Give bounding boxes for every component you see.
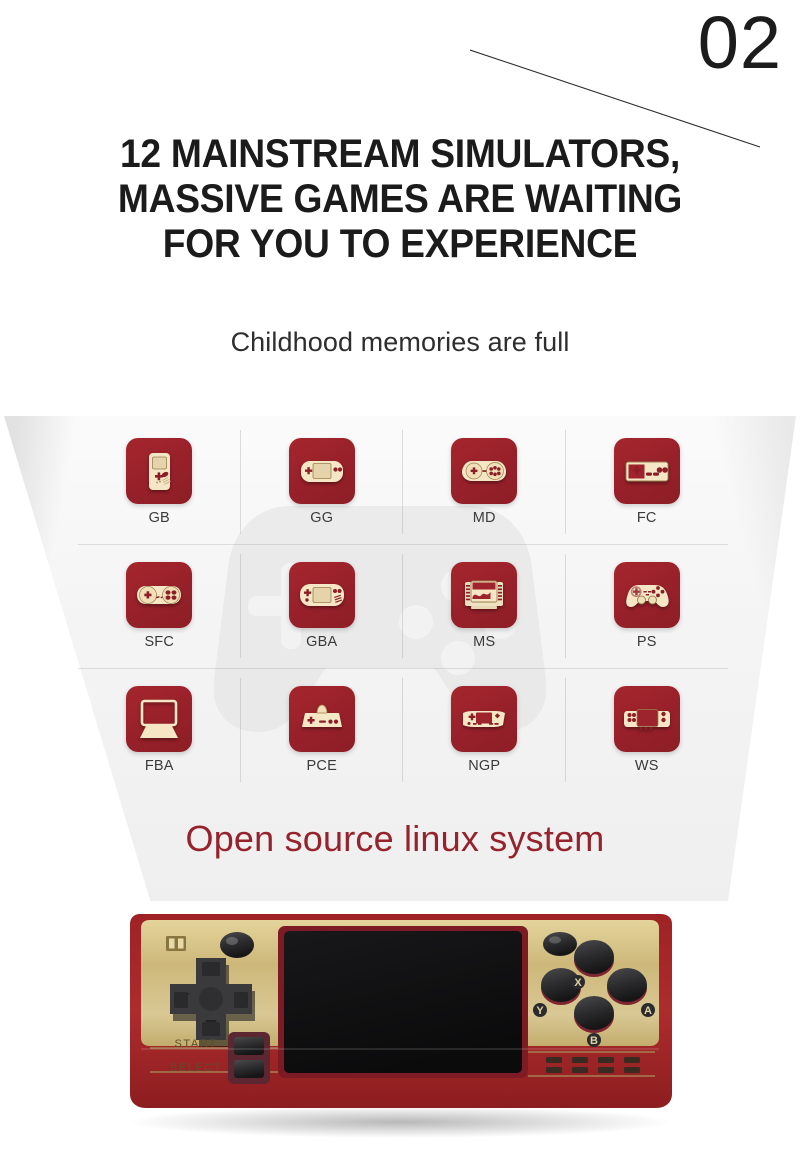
gameboy-advance-icon xyxy=(297,570,347,620)
simulator-tile xyxy=(614,562,680,628)
simulator-tile xyxy=(451,438,517,504)
simulator-tile xyxy=(126,686,192,752)
simulator-cell-fc[interactable]: FC xyxy=(566,420,729,544)
simulator-tile xyxy=(451,686,517,752)
simulator-tile xyxy=(289,562,355,628)
simulator-grid: GB GG xyxy=(78,420,728,792)
mega-drive-pad-icon xyxy=(459,446,509,496)
device-illustration: START SELECT X Y xyxy=(0,900,800,1156)
start-select-switches xyxy=(228,1032,270,1084)
simulator-label: SFC xyxy=(144,634,174,650)
simulator-label: MS xyxy=(473,634,495,650)
simulator-tile xyxy=(614,686,680,752)
wonderswan-icon xyxy=(622,694,672,744)
simulator-tile xyxy=(126,438,192,504)
famicom-pad-icon xyxy=(622,446,672,496)
button-b-label: B xyxy=(590,1035,598,1047)
simulator-tile xyxy=(289,438,355,504)
simulator-cell-md[interactable]: MD xyxy=(403,420,566,544)
select-label: SELECT xyxy=(170,1062,222,1074)
master-system-icon xyxy=(459,570,509,620)
simulator-label: GBA xyxy=(306,634,337,650)
simulator-label: PS xyxy=(637,634,657,650)
simulator-cell-ms[interactable]: MS xyxy=(403,544,566,668)
simulator-cell-gba[interactable]: GBA xyxy=(241,544,404,668)
simulator-panel: GB GG xyxy=(0,406,800,906)
simulator-cell-ngp[interactable]: NGP xyxy=(403,668,566,792)
handheld-device: START SELECT X Y xyxy=(0,900,800,1156)
device-screen xyxy=(284,931,522,1073)
page-headline: 12 MAINSTREAM SIMULATORS, MASSIVE GAMES … xyxy=(28,132,772,266)
simulator-cell-fba[interactable]: FBA xyxy=(78,668,241,792)
simulator-tile xyxy=(126,562,192,628)
simulator-label: FC xyxy=(637,510,657,526)
simulator-label: PCE xyxy=(307,758,337,774)
simulator-cell-pce[interactable]: PCE xyxy=(241,668,404,792)
pc-engine-pad-icon xyxy=(297,694,347,744)
tagline: Open source linux system xyxy=(0,818,790,860)
button-y-label: Y xyxy=(536,1005,544,1017)
simulator-cell-ps[interactable]: PS xyxy=(566,544,729,668)
playstation-pad-icon xyxy=(622,570,672,620)
simulator-label: GG xyxy=(310,510,333,526)
simulator-tile xyxy=(614,438,680,504)
simulator-label: WS xyxy=(635,758,659,774)
simulator-label: NGP xyxy=(468,758,500,774)
simulator-label: GB xyxy=(149,510,170,526)
simulator-tile xyxy=(289,686,355,752)
button-a-label: A xyxy=(644,1005,652,1017)
simulator-label: MD xyxy=(473,510,496,526)
headline-line-3: FOR YOU TO EXPERIENCE xyxy=(52,222,748,267)
simulator-cell-gb[interactable]: GB xyxy=(78,420,241,544)
headline-line-2: MASSIVE GAMES ARE WAITING xyxy=(52,177,748,222)
simulator-cell-ws[interactable]: WS xyxy=(566,668,729,792)
super-famicom-pad-icon xyxy=(134,570,184,620)
game-gear-icon xyxy=(297,446,347,496)
button-x-label: X xyxy=(574,977,582,989)
simulator-cell-gg[interactable]: GG xyxy=(241,420,404,544)
headline-line-1: 12 MAINSTREAM SIMULATORS, xyxy=(52,132,748,177)
arcade-cabinet-icon xyxy=(134,694,184,744)
page-subheadline: Childhood memories are full xyxy=(0,327,800,358)
gameboy-icon xyxy=(134,446,184,496)
neogeo-pocket-icon xyxy=(459,694,509,744)
brand-logo-icon xyxy=(166,936,186,951)
simulator-cell-sfc[interactable]: SFC xyxy=(78,544,241,668)
simulator-tile xyxy=(451,562,517,628)
simulator-label: FBA xyxy=(145,758,174,774)
